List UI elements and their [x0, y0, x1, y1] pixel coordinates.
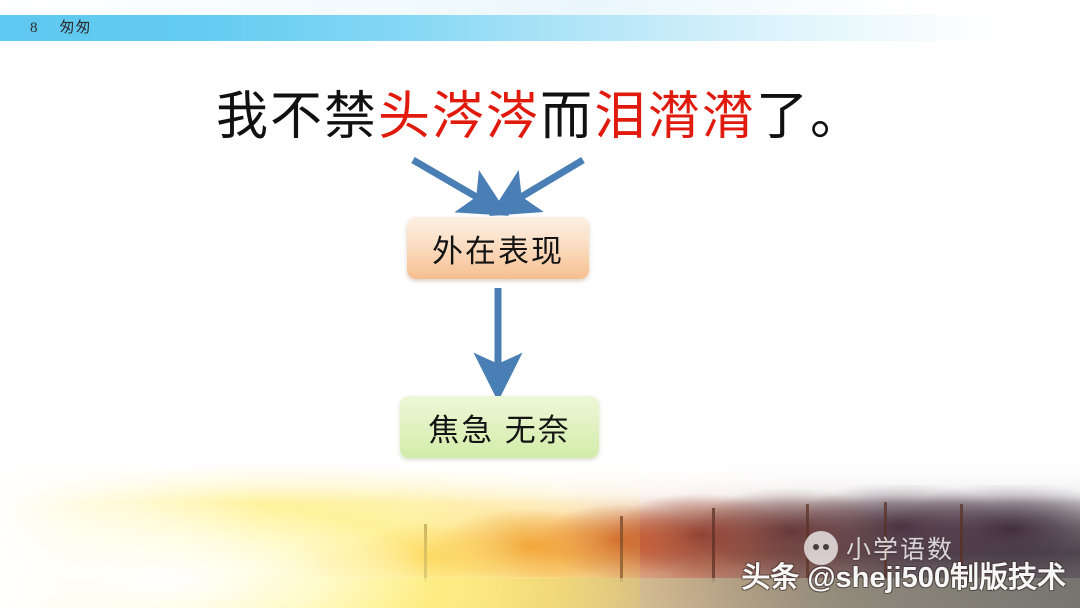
sentence-segment-3: 而 — [540, 89, 594, 146]
sentence-segment-5: 了。 — [756, 89, 864, 146]
lesson-title: 匆匆 — [60, 21, 92, 36]
slide-canvas: 8 匆匆 我不禁头涔涔而泪潸潸了。 外在表现 焦急 无奈 — [0, 0, 1080, 608]
header-top-wash — [0, 0, 1080, 15]
sentence-segment-2-highlight: 头涔涔 — [378, 89, 540, 146]
lesson-number: 8 — [30, 21, 38, 36]
arrow-lei-shan-to-box — [506, 160, 583, 206]
sentence-segment-1: 我不禁 — [216, 89, 378, 146]
main-sentence: 我不禁头涔涔而泪潸潸了。 — [0, 88, 1080, 148]
node-inner-feeling[interactable]: 焦急 无奈 — [400, 396, 599, 458]
header: 8 匆匆 — [0, 15, 400, 41]
node-outer-expression[interactable]: 外在表现 — [407, 217, 589, 279]
photo-top-fade — [0, 463, 1080, 503]
node-outer-expression-label: 外在表现 — [432, 226, 564, 271]
tree-trunk — [712, 508, 715, 582]
watermark-text: 头条 @sheji500制版技术 — [741, 554, 1066, 596]
arrow-head-cen-to-box — [413, 160, 492, 206]
sentence-segment-4-highlight: 泪潸潸 — [594, 89, 756, 146]
node-inner-feeling-label: 焦急 无奈 — [428, 405, 571, 450]
